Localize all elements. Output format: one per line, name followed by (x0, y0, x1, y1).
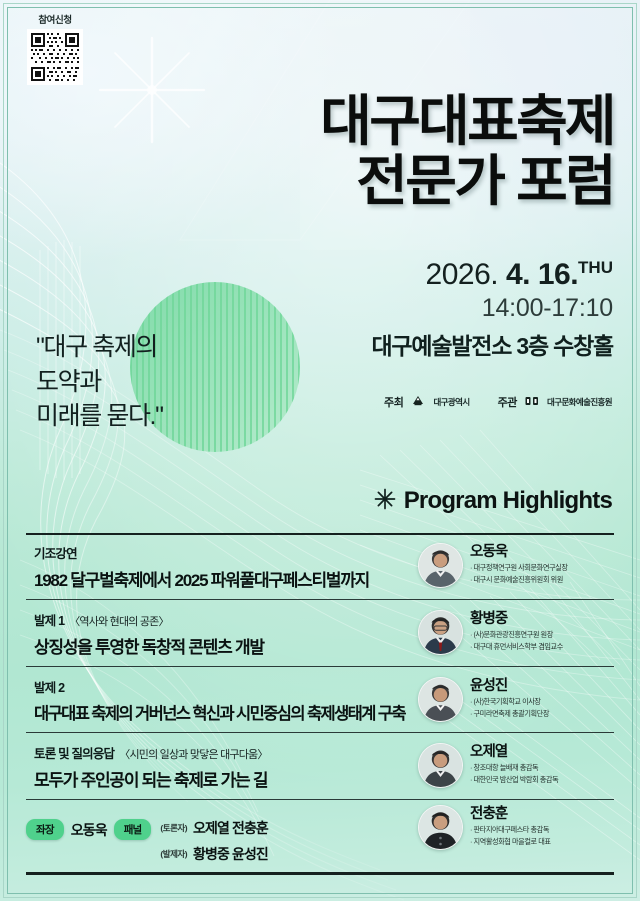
organizer-org-name: 대구문화예술진흥원 (547, 396, 612, 408)
qr-code-icon[interactable] (27, 29, 83, 85)
program-session-row: 기조강연 1982 달구벌축제에서 2025 파워풀대구페스티벌까지 (26, 533, 614, 600)
speaker-credential-1: · 대구정책연구원 사회문화연구실장 (470, 563, 567, 573)
speaker-name: 오동욱 (470, 545, 567, 561)
speaker-name: 황병중 (470, 612, 563, 628)
session-speaker: 오제열 · 창조대항 늘배재 총감독 · 대한민국 밤산업 박람회 총감독 (418, 742, 614, 788)
speaker-credential-1: · 창조대항 늘배재 총감독 (470, 763, 558, 773)
panel-names-presenters: 황병중 윤성진 (193, 844, 268, 864)
speaker-credential-2: · 대한민국 밤산업 박람회 총감독 (470, 775, 558, 785)
host-organizer-row: 주최 대구광역시 주관 대구문화예술진흥원 (384, 394, 612, 410)
session-subtitle: 〈역사와 현대의 공존〉 (69, 613, 168, 629)
title-line-2: 전문가 포럼 (320, 152, 614, 210)
program-highlights-heading: Program Highlights (374, 487, 612, 515)
chair-group: 좌장 오동욱 패널 (26, 818, 151, 840)
apply-label: 참여신청 (22, 12, 88, 26)
date-weekday: THU (578, 258, 613, 277)
poster-root: 참여신청 (0, 0, 640, 901)
quote-line-1: "대구 축제의 (36, 330, 163, 365)
speaker-name: 윤성진 (470, 679, 549, 695)
daegu-city-logo-icon (410, 395, 426, 410)
speaker-credential-2: · 지역활성화협 마을컬로 대표 (470, 837, 551, 847)
panel-badge: 패널 (114, 819, 152, 840)
session-text-empty (26, 804, 418, 805)
poster-quote: "대구 축제의 도약과 미래를 묻다." (36, 330, 163, 434)
host-label: 주최 (384, 394, 403, 410)
program-session-row: 발제 2 대구대표 축제의 거버넌스 혁신과 시민중심의 축제생태계 구축 (26, 667, 614, 733)
program-session-row: 발제 1 〈역사와 현대의 공존〉 상징성을 투영한 독창적 콘텐츠 개발 (26, 600, 614, 667)
speaker-credential-2: · 대구대 휴먼서비스학부 겸임교수 (470, 642, 563, 652)
daegu-arts-foundation-logo-icon (524, 395, 540, 410)
session-text: 발제 2 대구대표 축제의 거버넌스 혁신과 시민중심의 축제생태계 구축 (26, 676, 418, 724)
panel-tag-discussants: (토론자) (160, 822, 187, 834)
chair-name: 오동욱 (71, 820, 107, 840)
speaker-credential-2: · 구미라면축제 총괄기획단장 (470, 709, 549, 719)
title-line-1: 대구대표축제 (320, 92, 614, 150)
session-text: 기조강연 1982 달구벌축제에서 2025 파워풀대구페스티벌까지 (26, 542, 418, 591)
speaker-name: 전충훈 (470, 807, 551, 823)
session-text: 토론 및 질의응답 〈시민의 일상과 맞닿은 대구다움〉 모두가 주인공이 되는… (26, 742, 418, 791)
program-session-row: 토론 및 질의응답 〈시민의 일상과 맞닿은 대구다움〉 모두가 주인공이 되는… (26, 733, 614, 800)
panel-row-discussants: (토론자) 오제열 전충훈 (160, 818, 268, 838)
session-title: 대구대표 축제의 거버넌스 혁신과 시민중심의 축제생태계 구축 (34, 700, 418, 724)
footer-bottom-rule (26, 872, 614, 875)
session-kicker-label: 토론 및 질의응답 (34, 743, 114, 762)
organizer-label: 주관 (498, 394, 517, 410)
poster-title: 대구대표축제 전문가 포럼 (326, 92, 614, 211)
session-speaker: 윤성진 · (사)한국기획학교 이사장 · 구미라면축제 총괄기획단장 (418, 676, 614, 722)
chair-badge: 좌장 (26, 819, 64, 840)
session-kicker: 발제 2 (34, 677, 418, 696)
session-title: 상징성을 투영한 독창적 콘텐츠 개발 (34, 633, 418, 658)
speaker-info: 윤성진 · (사)한국기획학교 이사장 · 구미라면축제 총괄기획단장 (470, 679, 549, 719)
speaker-credential-2: · 대구시 문화예술진흥위원회 위원 (470, 575, 567, 585)
session-kicker: 토론 및 질의응답 〈시민의 일상과 맞닿은 대구다움〉 (34, 743, 418, 762)
session-subtitle: 〈시민의 일상과 맞닿은 대구다움〉 (119, 746, 267, 762)
session-kicker: 발제 1 〈역사와 현대의 공존〉 (34, 610, 418, 629)
quote-line-2: 도약과 (36, 365, 163, 400)
footer-roles: 좌장 오동욱 패널 (토론자) 오제열 전충훈 (발제자) 황병중 윤성진 (26, 818, 268, 864)
apply-qr-block[interactable]: 참여신청 (22, 12, 88, 85)
speaker-credential-1: · (사)문화관광진흥연구원 원장 (470, 630, 563, 640)
speaker-name: 오제열 (470, 745, 558, 761)
session-kicker-label: 기조강연 (34, 543, 77, 562)
panel-names-discussants: 오제열 전충훈 (193, 818, 268, 838)
event-date: 2026. 4. 16.THU (371, 258, 613, 291)
event-details: 2026. 4. 16.THU 14:00-17:10 대구예술발전소 3층 수… (371, 258, 613, 361)
speaker-info: 황병중 · (사)문화관광진흥연구원 원장 · 대구대 휴먼서비스학부 겸임교수 (470, 612, 563, 652)
session-speaker: 전충훈 · 판타지아대구페스타 총감독 · 지역활성화협 마을컬로 대표 (418, 804, 614, 850)
host-org-name: 대구광역시 (433, 396, 469, 408)
session-kicker-label: 발제 1 (34, 610, 64, 629)
event-venue: 대구예술발전소 3층 수창홀 (371, 327, 613, 361)
speaker-info: 전충훈 · 판타지아대구페스타 총감독 · 지역활성화협 마을컬로 대표 (470, 807, 551, 847)
avatar (418, 543, 463, 588)
avatar (418, 743, 463, 788)
avatar (418, 610, 463, 655)
session-speaker: 황병중 · (사)문화관광진흥연구원 원장 · 대구대 휴먼서비스학부 겸임교수 (418, 609, 614, 655)
avatar (418, 805, 463, 850)
event-time: 14:00-17:10 (371, 294, 613, 323)
session-kicker-label: 발제 2 (34, 677, 64, 696)
avatar (418, 677, 463, 722)
speaker-info: 오동욱 · 대구정책연구원 사회문화연구실장 · 대구시 문화예술진흥위원회 위… (470, 545, 567, 585)
session-title: 1982 달구벌축제에서 2025 파워풀대구페스티벌까지 (34, 566, 418, 591)
quote-line-3: 미래를 묻다." (36, 399, 163, 434)
speaker-info: 오제열 · 창조대항 늘배재 총감독 · 대한민국 밤산업 박람회 총감독 (470, 745, 558, 785)
session-kicker: 기조강연 (34, 543, 418, 562)
starburst-glow-icon (96, 34, 208, 146)
panel-row-presenters: (발제자) 황병중 윤성진 (160, 844, 268, 864)
session-text: 발제 1 〈역사와 현대의 공존〉 상징성을 투영한 독창적 콘텐츠 개발 (26, 609, 418, 658)
date-year: 2026. (426, 258, 499, 291)
program-session-list: 기조강연 1982 달구벌축제에서 2025 파워풀대구페스티벌까지 (26, 533, 614, 858)
session-title: 모두가 주인공이 되는 축제로 가는 길 (34, 766, 418, 791)
speaker-credential-1: · (사)한국기획학교 이사장 (470, 697, 549, 707)
panel-tag-presenters: (발제자) (160, 848, 187, 860)
date-month: 4. (506, 258, 530, 291)
program-highlights-label: Program Highlights (404, 487, 612, 515)
date-day: 16. (538, 258, 578, 291)
session-speaker: 오동욱 · 대구정책연구원 사회문화연구실장 · 대구시 문화예술진흥위원회 위… (418, 542, 614, 588)
speaker-credential-1: · 판타지아대구페스타 총감독 (470, 825, 551, 835)
starburst-icon (374, 488, 396, 515)
panel-group: (토론자) 오제열 전충훈 (발제자) 황병중 윤성진 (160, 818, 268, 864)
